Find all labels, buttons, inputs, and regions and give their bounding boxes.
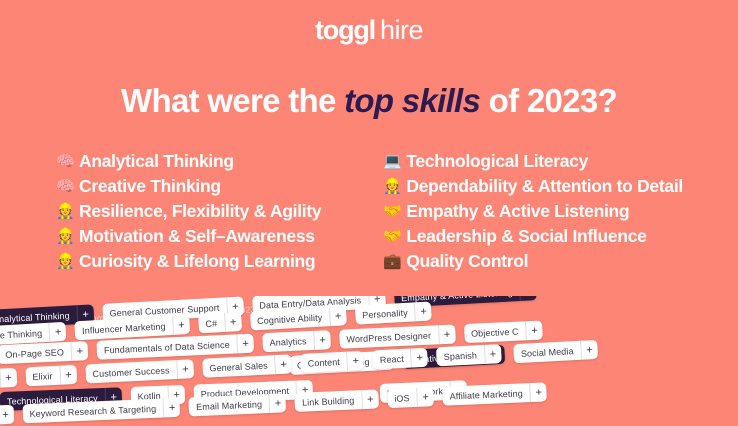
add-skill-plus-icon[interactable]: + [236, 334, 254, 354]
skill-tag[interactable]: General Sales+ [202, 354, 292, 377]
skill-tag[interactable]: Content+ [300, 351, 364, 373]
skill-tag[interactable]: On-Page SEO+ [0, 341, 88, 364]
skill-label: Leadership & Social Influence [406, 226, 646, 247]
skill-tag-label: WordPress Designer [339, 325, 438, 348]
add-skill-plus-icon[interactable]: + [580, 340, 598, 360]
skill-label: Empathy & Active Listening [406, 201, 629, 222]
construction-worker-emoji: 👷 [383, 179, 400, 194]
headline-accent: top skills [344, 82, 480, 119]
add-skill-plus-icon[interactable]: + [346, 351, 364, 371]
handshake-emoji: 🤝 [383, 229, 400, 244]
skill-label: Technological Literacy [406, 151, 588, 172]
skills-column-right: 💻Technological Literacy👷Dependability & … [383, 150, 718, 273]
add-skill-plus-icon[interactable]: + [361, 389, 379, 409]
skill-tag[interactable]: Social Media+ [513, 340, 598, 363]
add-skill-plus-icon[interactable]: + [269, 393, 287, 413]
construction-worker-emoji: 👷 [56, 229, 73, 244]
brain-emoji: 🧠 [56, 179, 73, 194]
headline-after: of 2023? [480, 82, 617, 119]
skill-tag-label: iOS [387, 388, 417, 408]
skill-tag[interactable]: Customer Success+ [85, 359, 194, 383]
skill-tag[interactable]: C#+ [198, 312, 242, 333]
skill-tag[interactable]: Personality+ [355, 301, 433, 324]
skill-tag-label: C# [198, 313, 225, 333]
brand-word: hire [380, 15, 423, 45]
brand-mark: toggl [315, 15, 375, 45]
skill-tag-label: General Sales [202, 355, 275, 378]
skill-tag-label: Spanish [436, 345, 484, 366]
skill-item: 🧠Creative Thinking [56, 175, 351, 198]
skills-column-left: 🧠Analytical Thinking🧠Creative Thinking👷R… [56, 150, 351, 273]
handshake-emoji: 🤝 [383, 204, 400, 219]
skill-tag-label: On-Page SEO [0, 342, 71, 364]
skill-item: 🧠Analytical Thinking [56, 150, 351, 173]
skill-tag[interactable]: iOS+ [387, 387, 434, 408]
laptop-emoji: 💻 [383, 154, 400, 169]
add-skill-plus-icon[interactable]: + [274, 354, 292, 374]
skill-item: 🤝Leadership & Social Influence [383, 225, 718, 248]
brand-logo: togglhire [0, 17, 738, 44]
skill-tag-label: Elixir [25, 366, 60, 387]
add-skill-plus-icon[interactable]: + [176, 359, 194, 379]
add-skill-plus-icon[interactable]: + [313, 330, 331, 350]
skill-tag-label: Content [300, 352, 347, 373]
skill-tag[interactable]: Affiliate Marketing+ [442, 382, 547, 405]
skill-item: 👷Dependability & Attention to Detail [383, 175, 718, 198]
skill-item: 💻Technological Literacy [383, 150, 718, 173]
skill-tag-label: Personality [355, 302, 416, 324]
skill-tag-label: Link Building [295, 390, 362, 412]
add-skill-plus-icon[interactable]: + [410, 348, 428, 368]
skill-item: 👷Motivation & Self–Awareness [56, 225, 351, 248]
skill-label: Quality Control [406, 251, 528, 272]
brain-emoji: 🧠 [56, 154, 73, 169]
skill-item: 👷Curiosity & Lifelong Learning [56, 250, 351, 273]
add-skill-plus-icon[interactable]: + [172, 315, 190, 335]
add-skill-plus-icon[interactable]: + [483, 344, 501, 364]
skill-tag[interactable]: Email Marketing+ [189, 393, 287, 416]
skill-item: 🤝Empathy & Active Listening [383, 200, 718, 223]
add-skill-plus-icon[interactable]: + [414, 301, 432, 321]
add-skill-plus-icon[interactable]: + [438, 325, 456, 345]
add-skill-plus-icon[interactable]: + [163, 398, 181, 418]
skill-tag-label: Influencer Marketing [75, 316, 173, 340]
skill-label: Motivation & Self–Awareness [79, 226, 315, 247]
skill-tag-label: Objective C [464, 321, 526, 343]
skill-tag[interactable]: Analytics+ [262, 330, 331, 352]
skill-tag-label: React [372, 349, 411, 370]
skill-label: Dependability & Attention to Detail [406, 176, 683, 197]
skill-tag-label: Email Marketing [189, 394, 270, 416]
skill-tag[interactable]: React+ [372, 348, 428, 370]
skill-label: Creative Thinking [79, 176, 221, 197]
add-skill-plus-icon[interactable]: + [49, 322, 67, 342]
skill-tag[interactable]: Link Building+ [295, 389, 379, 411]
skill-tag[interactable]: WordPress Designer+ [339, 325, 455, 349]
briefcase-emoji: 💼 [383, 254, 400, 269]
add-skill-plus-icon[interactable]: + [329, 306, 347, 326]
headline-before: What were the [121, 82, 344, 119]
add-skill-plus-icon[interactable]: + [224, 312, 242, 332]
skill-tag-label: Affiliate Marketing [442, 383, 530, 406]
skill-tag-label: Analytics [262, 331, 314, 352]
skill-tag-label: Fundamentals of Data Science [97, 334, 238, 359]
construction-worker-emoji: 👷 [56, 204, 73, 219]
skill-tag[interactable]: Negotiation+ [0, 405, 14, 426]
skill-tag-label: Customer Success [85, 360, 177, 383]
skill-tag-cloud: Analytical Thinking+General Customer Sup… [0, 296, 738, 426]
add-skill-plus-icon[interactable]: + [59, 365, 77, 385]
skill-tag[interactable]: Management+ [0, 368, 17, 391]
skill-tag[interactable]: Objective C+ [464, 321, 543, 344]
skill-label: Analytical Thinking [79, 151, 234, 172]
add-skill-plus-icon[interactable]: + [525, 321, 543, 341]
add-skill-plus-icon[interactable]: + [71, 341, 89, 361]
add-skill-plus-icon[interactable]: + [529, 382, 547, 402]
page-title: What were the top skills of 2023? [0, 82, 738, 120]
skill-label: Curiosity & Lifelong Learning [79, 251, 315, 272]
construction-worker-emoji: 👷 [56, 254, 73, 269]
skill-tag-label: Social Media [513, 341, 581, 363]
skill-tag[interactable]: Elixir+ [25, 365, 77, 386]
skills-columns: 🧠Analytical Thinking🧠Creative Thinking👷R… [56, 150, 718, 273]
skill-tag-label: Cognitive Ability [250, 307, 330, 330]
add-skill-plus-icon[interactable]: + [0, 405, 14, 425]
add-skill-plus-icon[interactable]: + [0, 368, 17, 388]
skill-item: 👷Resilience, Flexibility & Agility [56, 200, 351, 223]
skill-label: Resilience, Flexibility & Agility [79, 201, 321, 222]
add-skill-plus-icon[interactable]: + [519, 296, 537, 301]
skill-tag[interactable]: Spanish+ [436, 344, 501, 366]
skill-tag[interactable]: Cognitive Ability+ [250, 306, 347, 330]
skill-item: 💼Quality Control [383, 250, 718, 273]
